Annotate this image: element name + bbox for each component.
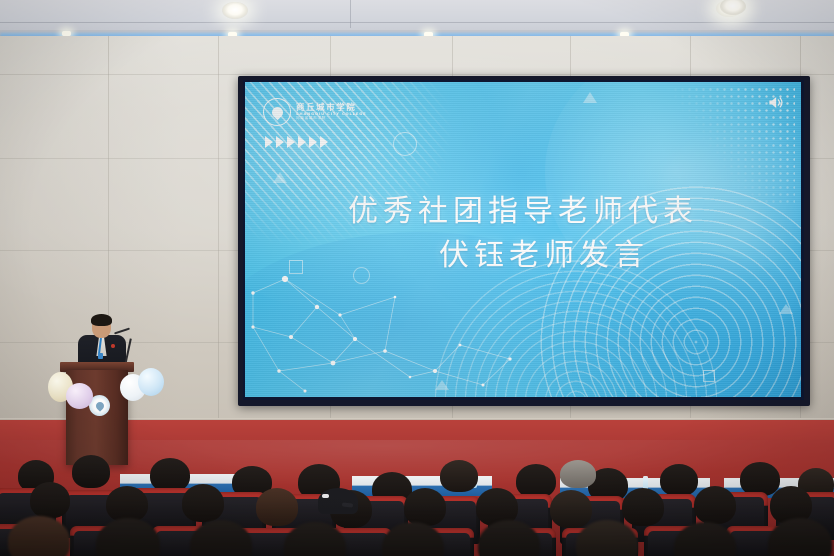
title-line-2: 伏钰老师发言 bbox=[245, 236, 801, 276]
speaker-hair bbox=[91, 314, 112, 326]
audience-head-grey bbox=[560, 460, 596, 488]
logo-name-cn: 商丘城市学院 bbox=[296, 103, 367, 111]
audience-head bbox=[440, 460, 478, 492]
triangle-outline-2 bbox=[273, 172, 287, 183]
circle-outline-1 bbox=[393, 132, 417, 156]
auditorium-scene: 商丘城市学院 SHANGQIU CITY COLLEGE 河南省城市学院 bbox=[0, 0, 834, 556]
audience-head bbox=[740, 462, 780, 496]
square-outline-2 bbox=[703, 370, 715, 382]
audience-area bbox=[0, 430, 834, 556]
triangle-outline-4 bbox=[779, 304, 793, 314]
screen-content: 商丘城市学院 SHANGQIU CITY COLLEGE 河南省城市学院 bbox=[245, 82, 801, 397]
downlight-1 bbox=[222, 2, 248, 19]
network-constellation-graphic bbox=[245, 267, 535, 397]
balloon-lavender bbox=[66, 383, 93, 409]
audience-head bbox=[694, 486, 736, 524]
play-triangle-icon bbox=[309, 136, 317, 148]
audience-head bbox=[30, 482, 70, 518]
audience-head bbox=[404, 488, 446, 526]
audience-head bbox=[550, 490, 592, 528]
play-triangle-icon bbox=[265, 136, 273, 148]
audience-head-front bbox=[8, 516, 70, 556]
play-triangle-icon bbox=[298, 136, 306, 148]
led-display-screen: 商丘城市学院 SHANGQIU CITY COLLEGE 河南省城市学院 bbox=[238, 76, 810, 406]
college-logo: 商丘城市学院 SHANGQIU CITY COLLEGE 河南省城市学院 bbox=[263, 98, 367, 126]
play-triangle-icon bbox=[287, 136, 295, 148]
baseball-cap bbox=[318, 488, 358, 514]
audience-head bbox=[182, 484, 224, 522]
triangle-outline-1 bbox=[583, 92, 597, 103]
speaker-lapel-pin bbox=[111, 344, 115, 348]
cap-logo bbox=[322, 494, 329, 498]
play-triangle-icon bbox=[276, 136, 284, 148]
audience-head bbox=[622, 488, 664, 526]
title-line-1: 优秀社团指导老师代表 bbox=[245, 192, 801, 232]
slide-title: 优秀社团指导老师代表 伏钰老师发言 bbox=[245, 192, 801, 275]
school-emblem-icon bbox=[263, 98, 291, 126]
speaker-person bbox=[76, 316, 128, 368]
audience-head bbox=[660, 464, 698, 496]
play-triangle-icon bbox=[320, 136, 328, 148]
balloon-lightblue bbox=[138, 368, 164, 396]
audience-head bbox=[150, 458, 190, 492]
logo-text-block: 商丘城市学院 SHANGQIU CITY COLLEGE 河南省城市学院 bbox=[296, 103, 367, 121]
audience-head bbox=[516, 464, 556, 498]
speaker-badge bbox=[98, 353, 103, 359]
audience-head bbox=[256, 488, 298, 526]
sound-speaker-icon bbox=[767, 95, 784, 110]
chevron-arrow-group bbox=[265, 136, 328, 148]
logo-name-sub: 河南省城市学院 bbox=[296, 117, 367, 121]
ceiling bbox=[0, 0, 834, 34]
audience-head bbox=[106, 486, 148, 522]
audience-head bbox=[72, 455, 110, 488]
